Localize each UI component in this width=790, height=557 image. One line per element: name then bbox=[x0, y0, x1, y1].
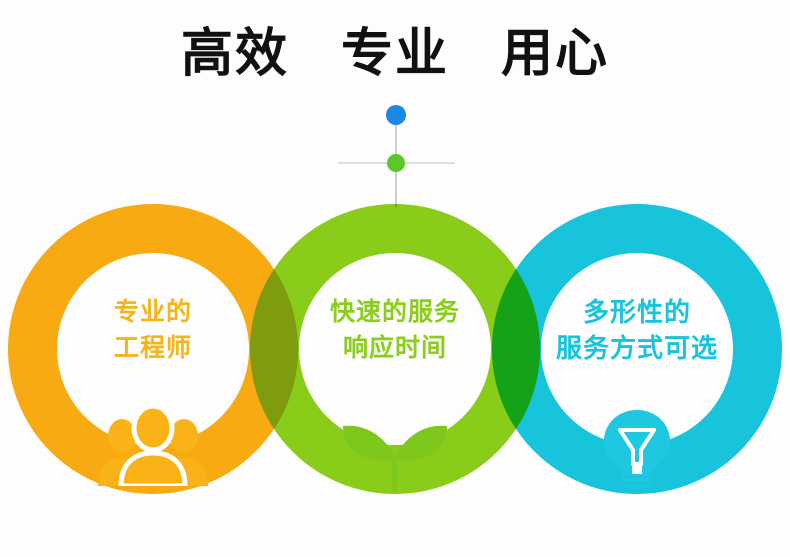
headline-word-2: 专业 bbox=[341, 28, 449, 80]
card-orange-icon-label: 三人团队图标 bbox=[153, 204, 154, 205]
card-cyan[interactable]: 多形性的 服务方式可选 灯泡图标 bbox=[492, 204, 782, 494]
headline-word-1: 高效 bbox=[181, 28, 289, 80]
card-cyan-icon-label: 灯泡图标 bbox=[637, 204, 638, 205]
connector-top-dot-icon bbox=[386, 105, 406, 125]
infographic-canvas: 高效专业用心 bbox=[0, 0, 790, 557]
card-cyan-label: 多形性的 服务方式可选 bbox=[472, 294, 790, 366]
three-people-icon bbox=[93, 408, 213, 486]
card-cyan-line-1: 多形性的 bbox=[472, 294, 790, 330]
headline-word-3: 用心 bbox=[501, 28, 609, 80]
connector-mid-dot-icon bbox=[387, 154, 405, 172]
lightbulb-icon bbox=[595, 408, 679, 488]
card-green-icon-label: 幼苗叶片图标 bbox=[395, 204, 396, 205]
card-cyan-line-2: 服务方式可选 bbox=[472, 330, 790, 366]
page-title: 高效专业用心 bbox=[0, 28, 790, 80]
sprout-leaf-icon bbox=[336, 412, 454, 492]
